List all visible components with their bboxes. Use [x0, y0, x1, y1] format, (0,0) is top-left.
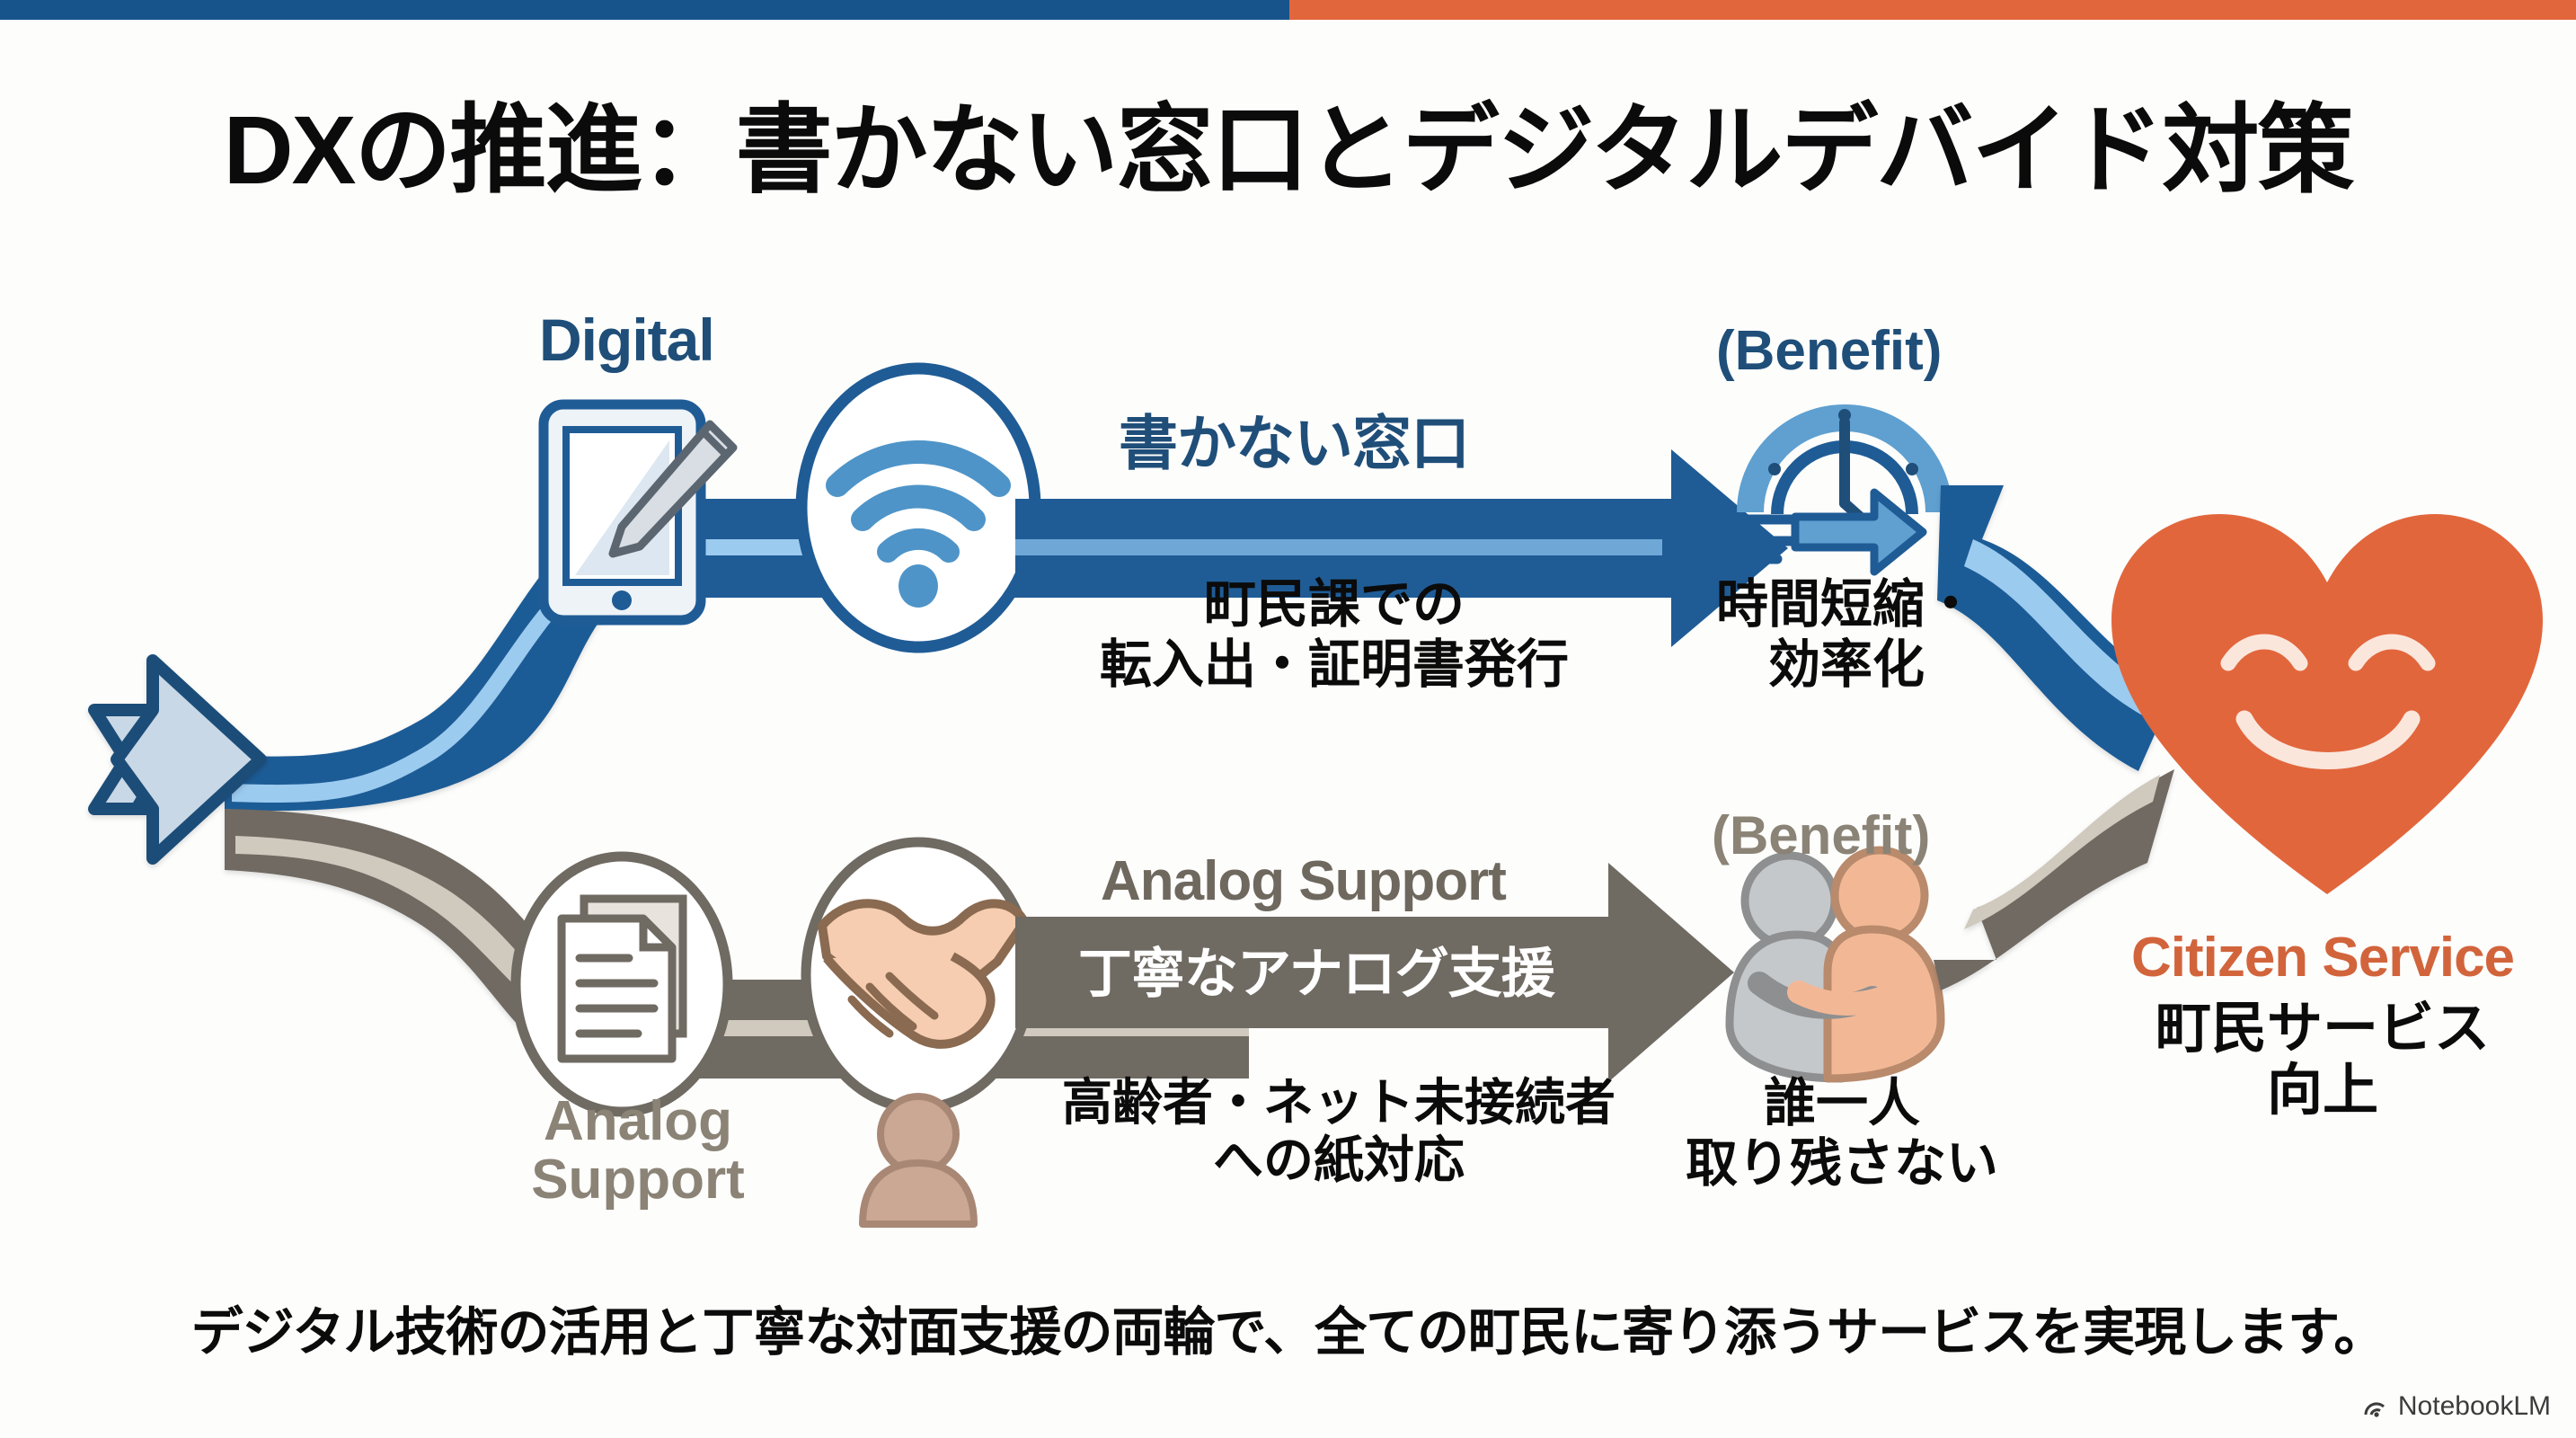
- handshake-icon: [806, 842, 1031, 1108]
- analog-benefit-text: 誰一人 取り残さない: [1626, 1074, 2058, 1194]
- analog-arrow-subtext: 高齢者・ネット未接続者 への紙対応: [1033, 1074, 1644, 1190]
- analog-track-label-line1: Analog: [521, 1092, 755, 1150]
- analog-benefit-tag: (Benefit): [1712, 804, 1930, 866]
- analog-benefit-line1: 誰一人: [1626, 1074, 2058, 1134]
- digital-benefit-line1: 時間短縮・: [1676, 575, 2017, 635]
- outcome-title-jp: 町民サービス 向上: [2129, 998, 2516, 1123]
- analog-track-label-line2: Support: [521, 1150, 755, 1209]
- analog-arrow-subtext-line1: 高齢者・ネット未接続者: [1033, 1074, 1644, 1132]
- slide-caption: デジタル技術の活用と丁寧な対面支援の両輪で、全ての町民に寄り添うサービスを実現し…: [0, 1290, 2576, 1365]
- notebooklm-icon: [2362, 1393, 2389, 1420]
- digital-benefit-line2: 効率化: [1676, 635, 2017, 696]
- analog-arrow-subtext-line2: への紙対応: [1033, 1132, 1644, 1189]
- notebooklm-label: NotebookLM: [2398, 1391, 2551, 1422]
- slide-canvas: DXの推進：書かない窓口とデジタルデバイド対策: [0, 0, 2576, 1438]
- digital-track-label: Digital: [539, 306, 714, 374]
- digital-arrow-subtext-line1: 町民課での: [1083, 575, 1586, 635]
- documents-icon: [516, 857, 728, 1112]
- people-hug-icon: [1730, 850, 1941, 1078]
- digital-benefit-tag: (Benefit): [1716, 319, 1942, 383]
- digital-arrow-subtext-line2: 転入出・証明書発行: [1083, 635, 1586, 696]
- digital-arrow-subtext: 町民課での 転入出・証明書発行: [1083, 575, 1586, 695]
- diagram-artwork: [0, 0, 2576, 1438]
- analog-arrow-title: Analog Support: [1101, 849, 1506, 913]
- analog-benefit-line2: 取り残さない: [1626, 1134, 2058, 1194]
- analog-arrow-inner-text: 丁寧なアナログ支援: [1078, 930, 1554, 1008]
- digital-benefit-text: 時間短縮・ 効率化: [1676, 575, 2017, 695]
- notebooklm-watermark: NotebookLM: [2362, 1391, 2551, 1422]
- outcome-title-jp-line2: 向上: [2129, 1060, 2516, 1122]
- smiling-heart-icon: [2111, 514, 2543, 894]
- analog-track-label: Analog Support: [521, 1092, 755, 1209]
- outcome-title-jp-line1: 町民サービス: [2129, 998, 2516, 1060]
- wifi-icon: [801, 368, 1035, 647]
- tablet-pen-icon: [544, 404, 733, 620]
- digital-arrow-title: 書かない窓口: [1119, 395, 1469, 482]
- person-icon: [863, 1096, 974, 1224]
- outcome-title-en: Citizen Service: [2116, 926, 2529, 990]
